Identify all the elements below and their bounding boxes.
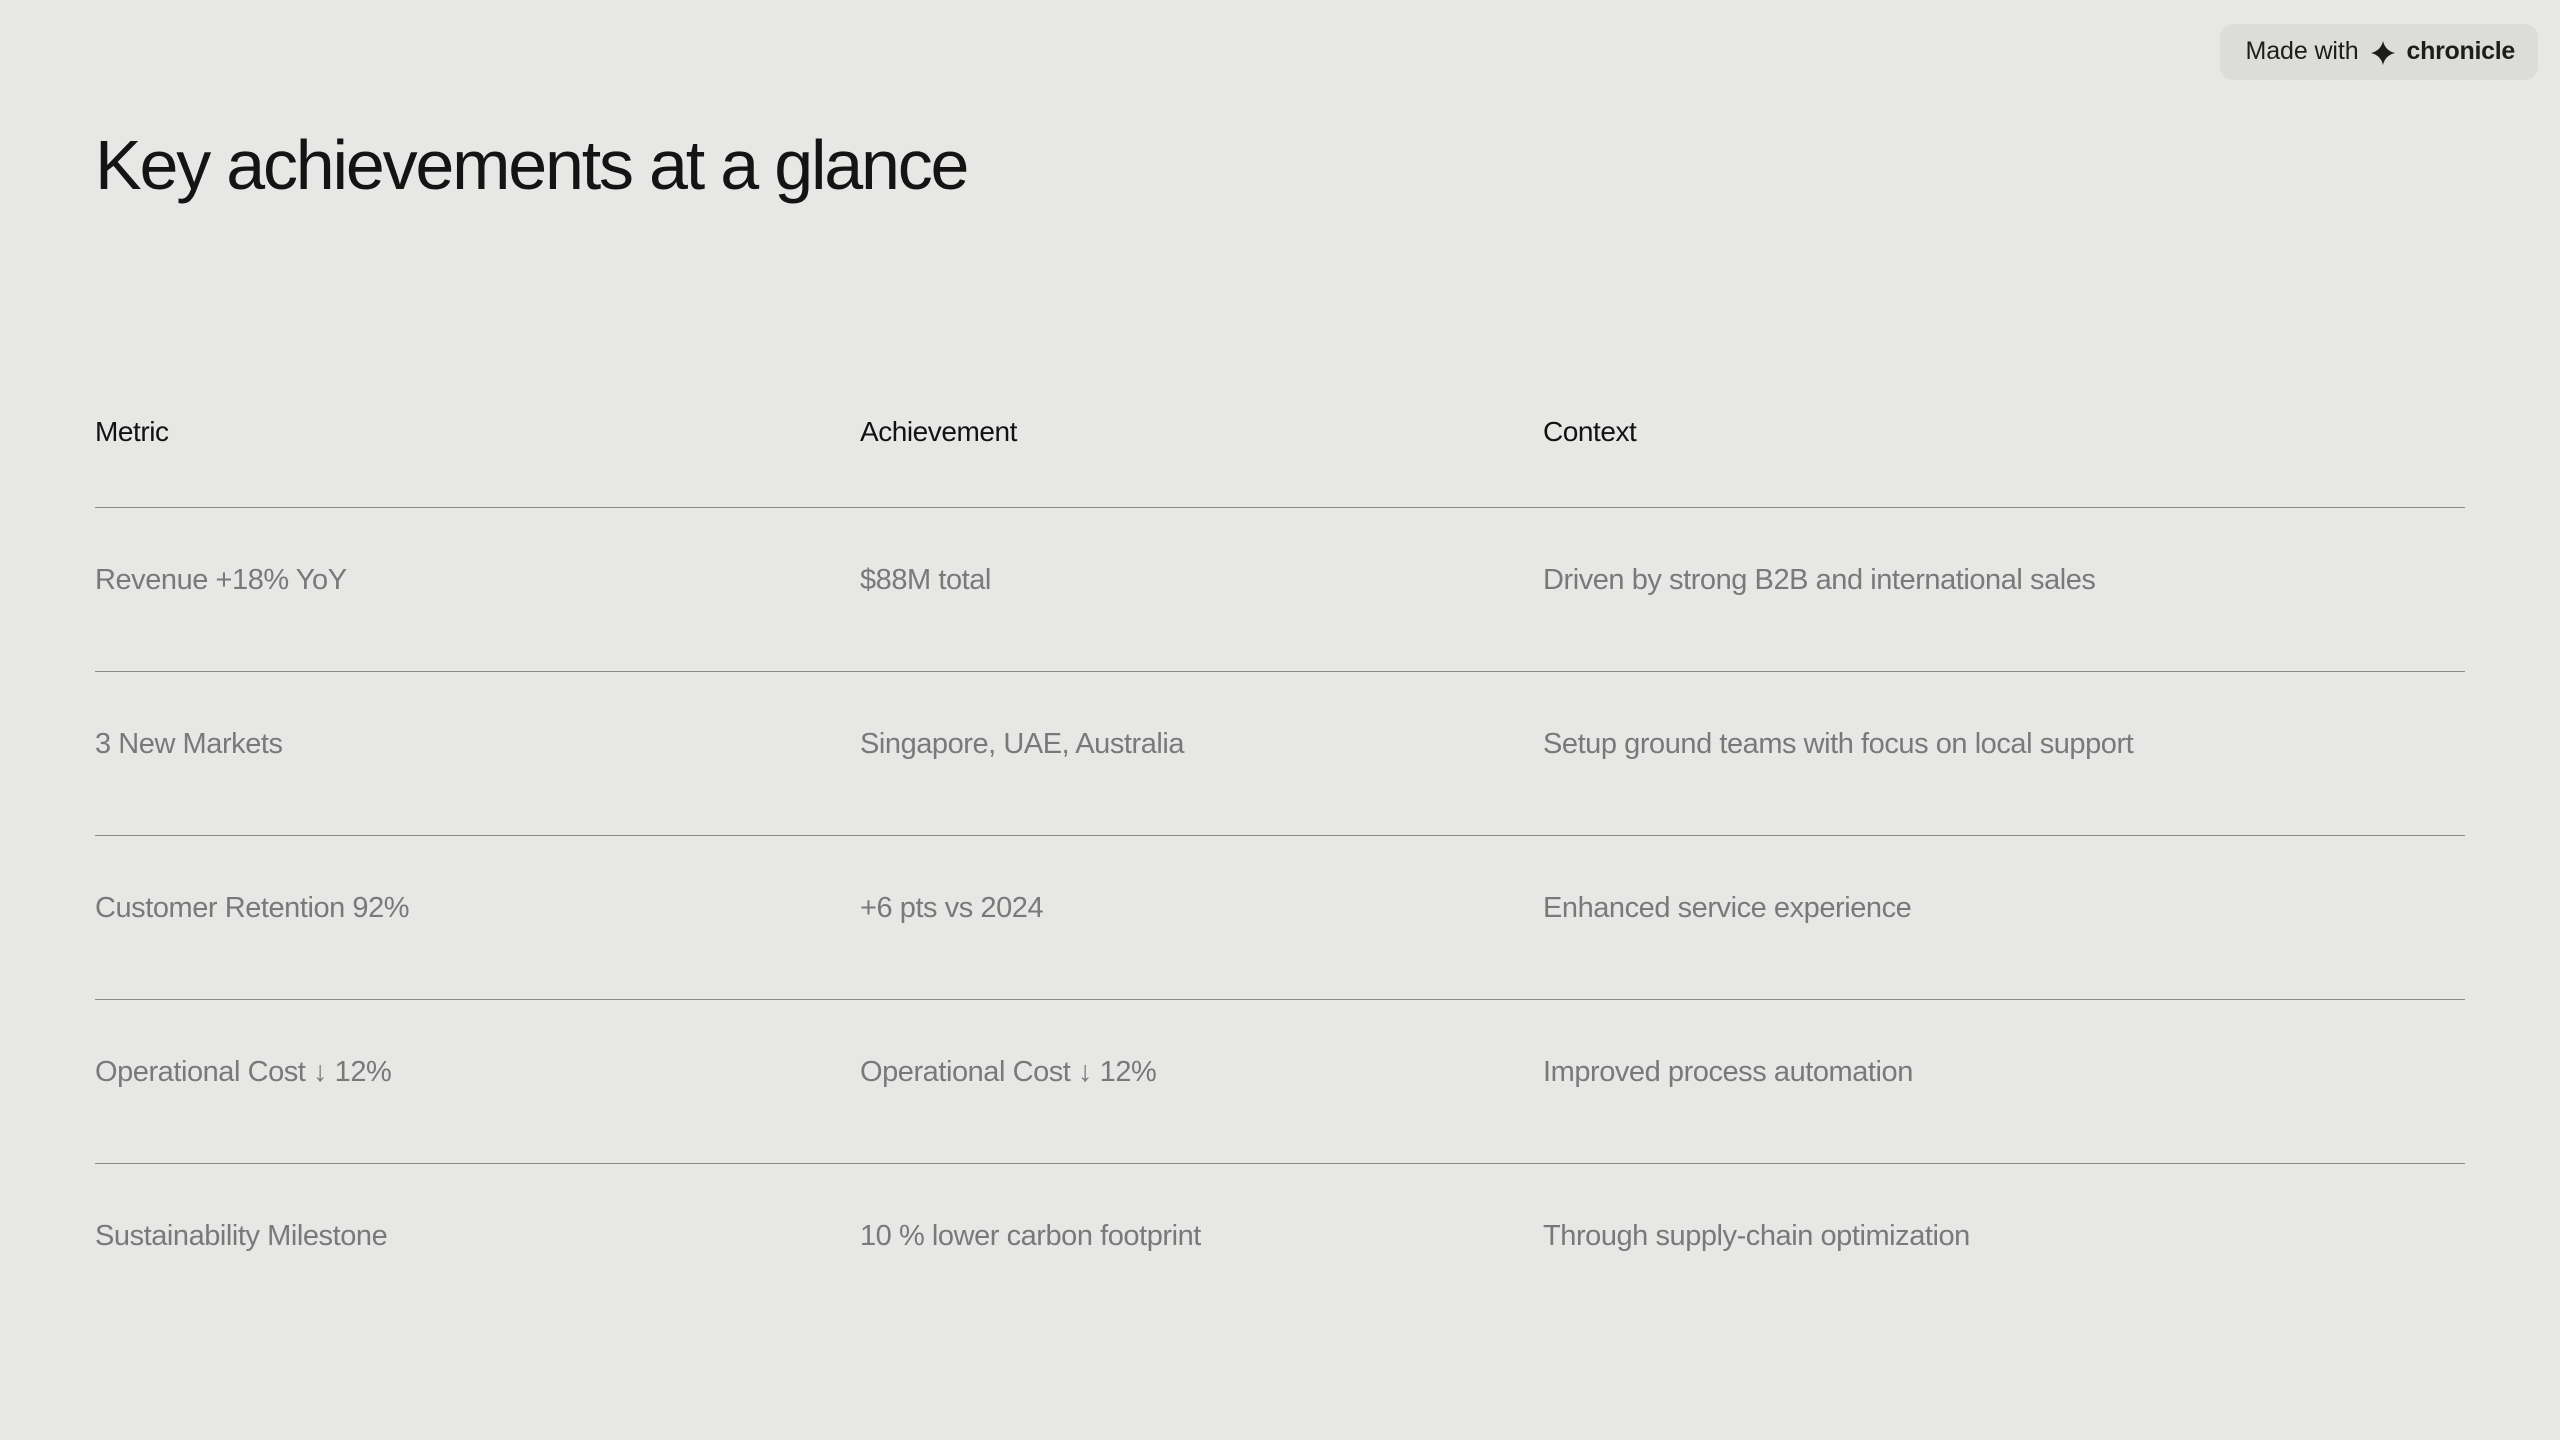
column-header-achievement: Achievement: [860, 400, 1543, 448]
badge-prefix-label: Made with: [2246, 37, 2359, 66]
cell-achievement: 10 % lower carbon footprint: [860, 1164, 1543, 1253]
cell-metric: Customer Retention 92%: [95, 836, 860, 925]
cell-context: Improved process automation: [1543, 1000, 2465, 1089]
cell-achievement: Singapore, UAE, Australia: [860, 672, 1543, 761]
table-row: Customer Retention 92% +6 pts vs 2024 En…: [95, 836, 2465, 999]
cell-achievement: +6 pts vs 2024: [860, 836, 1543, 925]
cell-context: Enhanced service experience: [1543, 836, 2465, 925]
achievements-table: Metric Achievement Context Revenue +18% …: [95, 400, 2465, 1327]
cell-context: Through supply-chain optimization: [1543, 1164, 2465, 1253]
page-title: Key achievements at a glance: [95, 130, 967, 200]
cell-metric: Revenue +18% YoY: [95, 508, 860, 597]
table-header-row: Metric Achievement Context: [95, 400, 2465, 507]
table-row: Revenue +18% YoY $88M total Driven by st…: [95, 508, 2465, 671]
table-row: Operational Cost ↓ 12% Operational Cost …: [95, 1000, 2465, 1163]
cell-context: Setup ground teams with focus on local s…: [1543, 672, 2465, 761]
cell-metric: 3 New Markets: [95, 672, 860, 761]
cell-context: Driven by strong B2B and international s…: [1543, 508, 2465, 597]
cell-achievement: Operational Cost ↓ 12%: [860, 1000, 1543, 1089]
made-with-chronicle-badge[interactable]: Made with chronicle: [2220, 24, 2539, 80]
table-row: 3 New Markets Singapore, UAE, Australia …: [95, 672, 2465, 835]
cell-metric: Sustainability Milestone: [95, 1164, 860, 1253]
column-header-metric: Metric: [95, 400, 860, 448]
table-row: Sustainability Milestone 10 % lower carb…: [95, 1164, 2465, 1327]
badge-brand-label: chronicle: [2407, 37, 2515, 66]
cell-achievement: $88M total: [860, 508, 1543, 597]
cell-metric: Operational Cost ↓ 12%: [95, 1000, 860, 1089]
sparkle-icon: [2370, 40, 2396, 66]
column-header-context: Context: [1543, 400, 2465, 448]
